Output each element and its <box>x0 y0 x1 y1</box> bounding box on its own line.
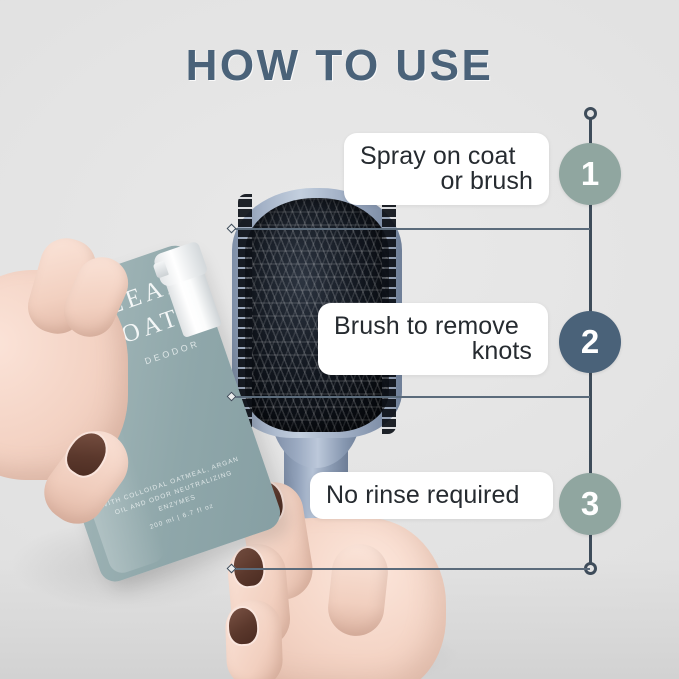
how-to-use-infographic: CLEAN COATS DEODOR WITH COLLOIDAL OATMEA… <box>0 0 679 679</box>
step-callout-1: Spray on coat or brush <box>344 133 549 205</box>
step-callout-3-line-1: No rinse required <box>326 483 537 508</box>
step-callout-1-line-2: or brush <box>360 169 533 194</box>
step-number-badge-1: 1 <box>559 143 621 205</box>
step-number-badge-3: 3 <box>559 473 621 535</box>
step-connector-line <box>231 396 590 398</box>
step-callout-2-line-1: Brush to remove <box>334 314 532 339</box>
step-number-badge-2: 2 <box>559 311 621 373</box>
hand-holding-bottle <box>0 232 173 532</box>
step-callout-1-line-1: Spray on coat <box>360 144 533 169</box>
step-connector-line <box>231 568 590 570</box>
step-callout-2-line-2: knots <box>334 339 532 364</box>
page-title: HOW TO USE <box>0 41 679 91</box>
step-connector-line <box>231 228 590 230</box>
step-callout-2: Brush to remove knots <box>318 303 548 375</box>
circle-node-icon <box>584 107 597 120</box>
step-callout-3: No rinse required <box>310 472 553 519</box>
